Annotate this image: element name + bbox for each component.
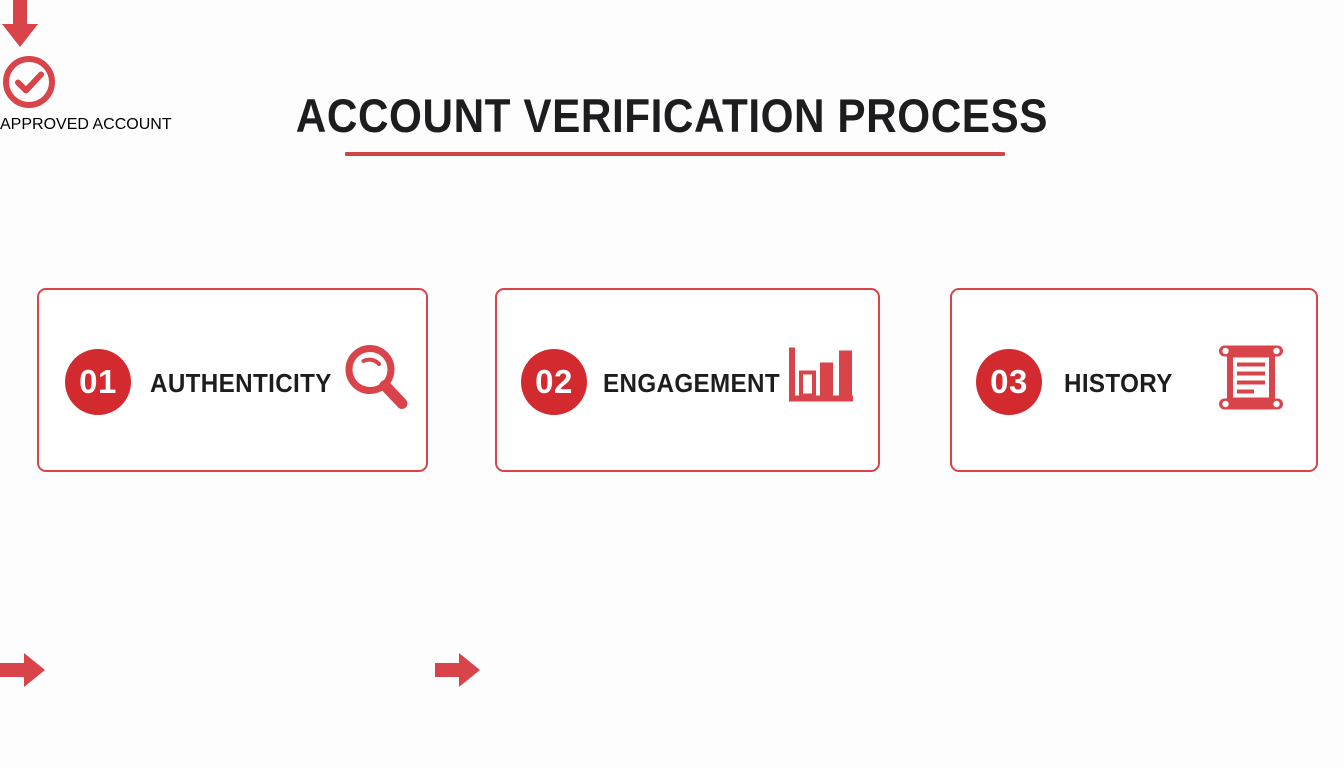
page-title: ACCOUNT VERIFICATION PROCESS xyxy=(296,92,1048,139)
step-number-badge: 03 xyxy=(976,349,1042,415)
arrow-step-2-to-3-icon xyxy=(0,650,46,695)
bar-chart-icon xyxy=(785,342,857,419)
step-label: AUTHENTICITY xyxy=(150,368,332,399)
step-number-badge: 01 xyxy=(65,349,131,415)
step-card-engagement[interactable]: 02 ENGAGEMENT xyxy=(495,288,880,472)
step-card-history[interactable]: 03 HISTORY xyxy=(950,288,1318,472)
title-block: ACCOUNT VERIFICATION PROCESS xyxy=(0,92,1344,139)
step-number-badge: 02 xyxy=(521,349,587,415)
magnifier-icon xyxy=(338,339,416,422)
step-card-authenticity[interactable]: 01 AUTHENTICITY xyxy=(37,288,428,472)
process-steps-row: 01 AUTHENTICITY 02 ENGAGEMENT 03 HISTORY xyxy=(0,288,1344,472)
step-label: ENGAGEMENT xyxy=(603,368,780,399)
arrow-step-1-to-2-icon xyxy=(435,650,481,695)
scroll-document-icon xyxy=(1215,340,1287,421)
title-underline xyxy=(345,152,1005,156)
step-label: HISTORY xyxy=(1064,368,1173,399)
arrow-step-2-to-outcome-icon xyxy=(0,0,1344,53)
